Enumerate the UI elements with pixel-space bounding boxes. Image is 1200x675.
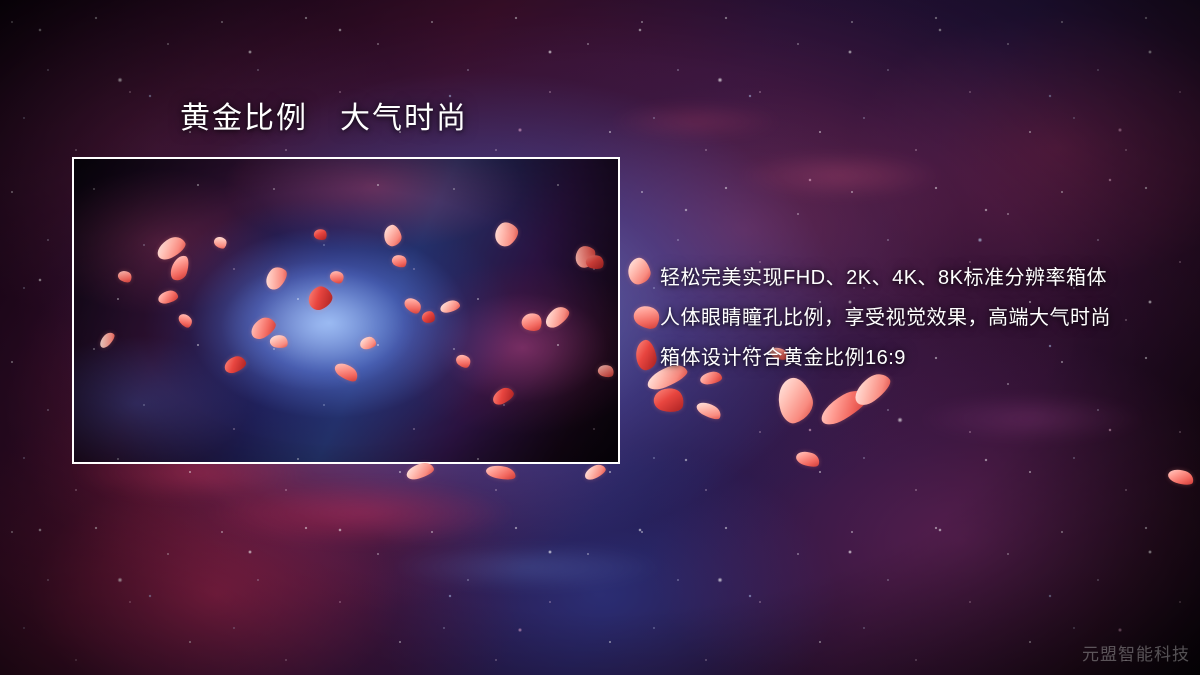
- framed-picture: [72, 157, 620, 464]
- body-line: 轻松完美实现FHD、2K、4K、8K标准分辨率箱体: [660, 258, 1180, 298]
- body-line: 人体眼睛瞳孔比例，享受视觉效果，高端大气时尚: [660, 298, 1180, 338]
- picture-vignette: [74, 159, 618, 462]
- slide-title: 黄金比例 大气时尚: [180, 102, 468, 136]
- petal: [652, 385, 687, 416]
- petal: [1166, 466, 1195, 487]
- petal: [794, 448, 821, 469]
- petal: [694, 399, 723, 423]
- petal: [583, 462, 608, 482]
- petal: [772, 374, 818, 426]
- body-line: 箱体设计符合黄金比例16:9: [660, 338, 1180, 378]
- petal: [485, 463, 517, 482]
- petal: [625, 256, 653, 287]
- picture-content: [74, 159, 618, 462]
- petal: [634, 338, 659, 371]
- petal: [816, 384, 872, 429]
- watermark: 元盟智能科技: [1082, 640, 1190, 665]
- body-text-block: 轻松完美实现FHD、2K、4K、8K标准分辨率箱体 人体眼睛瞳孔比例，享受视觉效…: [660, 258, 1180, 378]
- petal: [630, 301, 664, 334]
- presentation-slide: 黄金比例 大气时尚: [0, 0, 1200, 675]
